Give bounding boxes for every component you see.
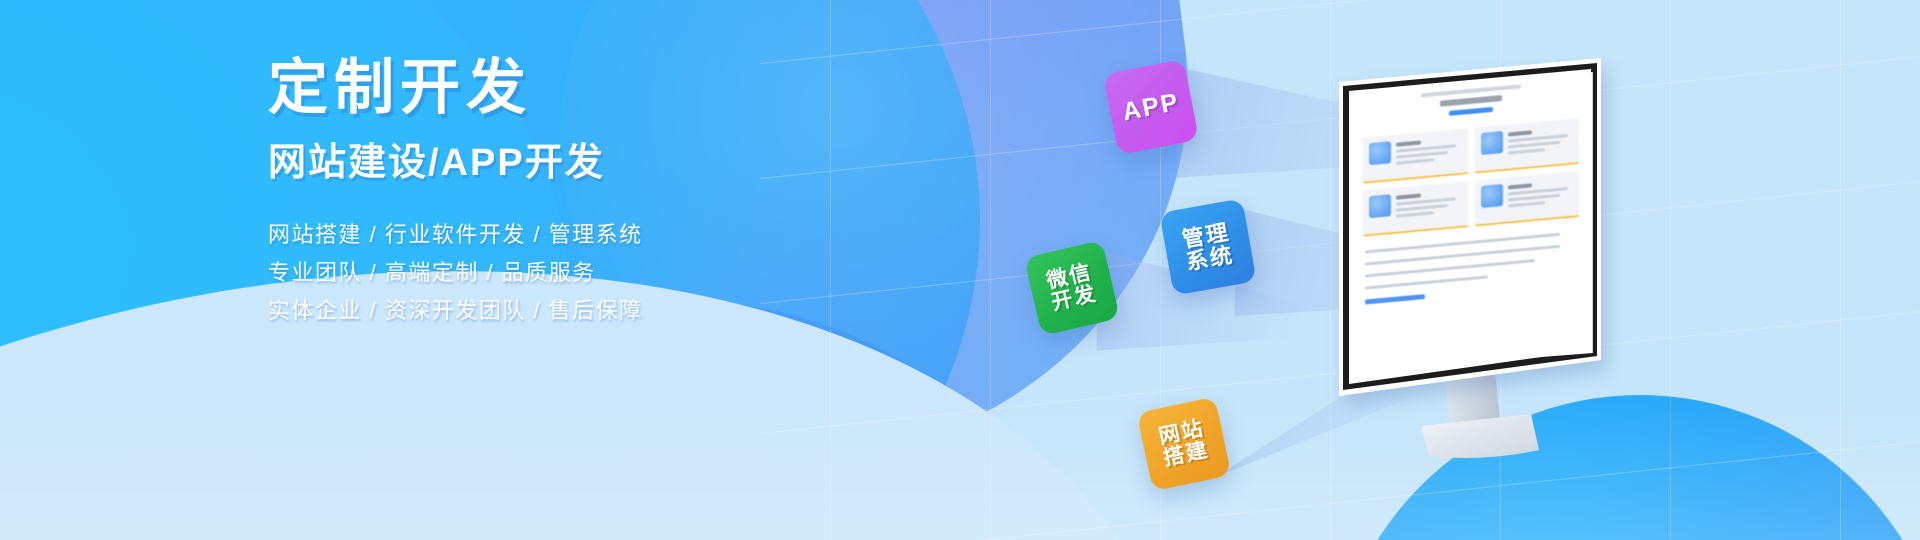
mockup-accent-bar <box>1365 294 1425 304</box>
feature-list: 网站搭建 / 行业软件开发 / 管理系统 专业团队 / 高端定制 / 品质服务 … <box>268 216 908 330</box>
card-management-system[interactable]: 管理 系统 <box>1159 198 1256 295</box>
headline-block: 定制开发 网站建设/APP开发 网站搭建 / 行业软件开发 / 管理系统 专业团… <box>268 58 908 330</box>
feature-icon <box>1369 141 1391 165</box>
monitor-base <box>1421 414 1539 458</box>
website-mockup <box>1349 72 1593 372</box>
card-app-line-1: APP <box>1120 89 1181 126</box>
feature-icon <box>1481 184 1503 208</box>
page-title: 定制开发 <box>268 58 908 118</box>
card-website-building[interactable]: 网站 搭建 <box>1137 397 1232 492</box>
mockup-feature-card <box>1363 181 1468 237</box>
feature-line: 网站搭建 / 行业软件开发 / 管理系统 <box>268 216 908 254</box>
screen-content-clip <box>1349 72 1593 372</box>
feature-icon <box>1369 194 1391 218</box>
card-app[interactable]: APP <box>1103 59 1199 155</box>
mockup-feature-grid <box>1349 103 1593 238</box>
mockup-feature-card <box>1475 118 1580 174</box>
feature-line: 专业团队 / 高端定制 / 品质服务 <box>268 254 908 292</box>
promo-banner: 定制开发 网站建设/APP开发 网站搭建 / 行业软件开发 / 管理系统 专业团… <box>0 0 1920 540</box>
page-subtitle: 网站建设/APP开发 <box>268 144 908 182</box>
feature-line: 实体企业 / 资深开发团队 / 售后保障 <box>268 292 908 330</box>
monitor-illustration <box>1325 58 1625 488</box>
mockup-feature-card <box>1475 171 1580 227</box>
feature-icon <box>1481 131 1503 155</box>
mockup-feature-card <box>1363 128 1468 184</box>
